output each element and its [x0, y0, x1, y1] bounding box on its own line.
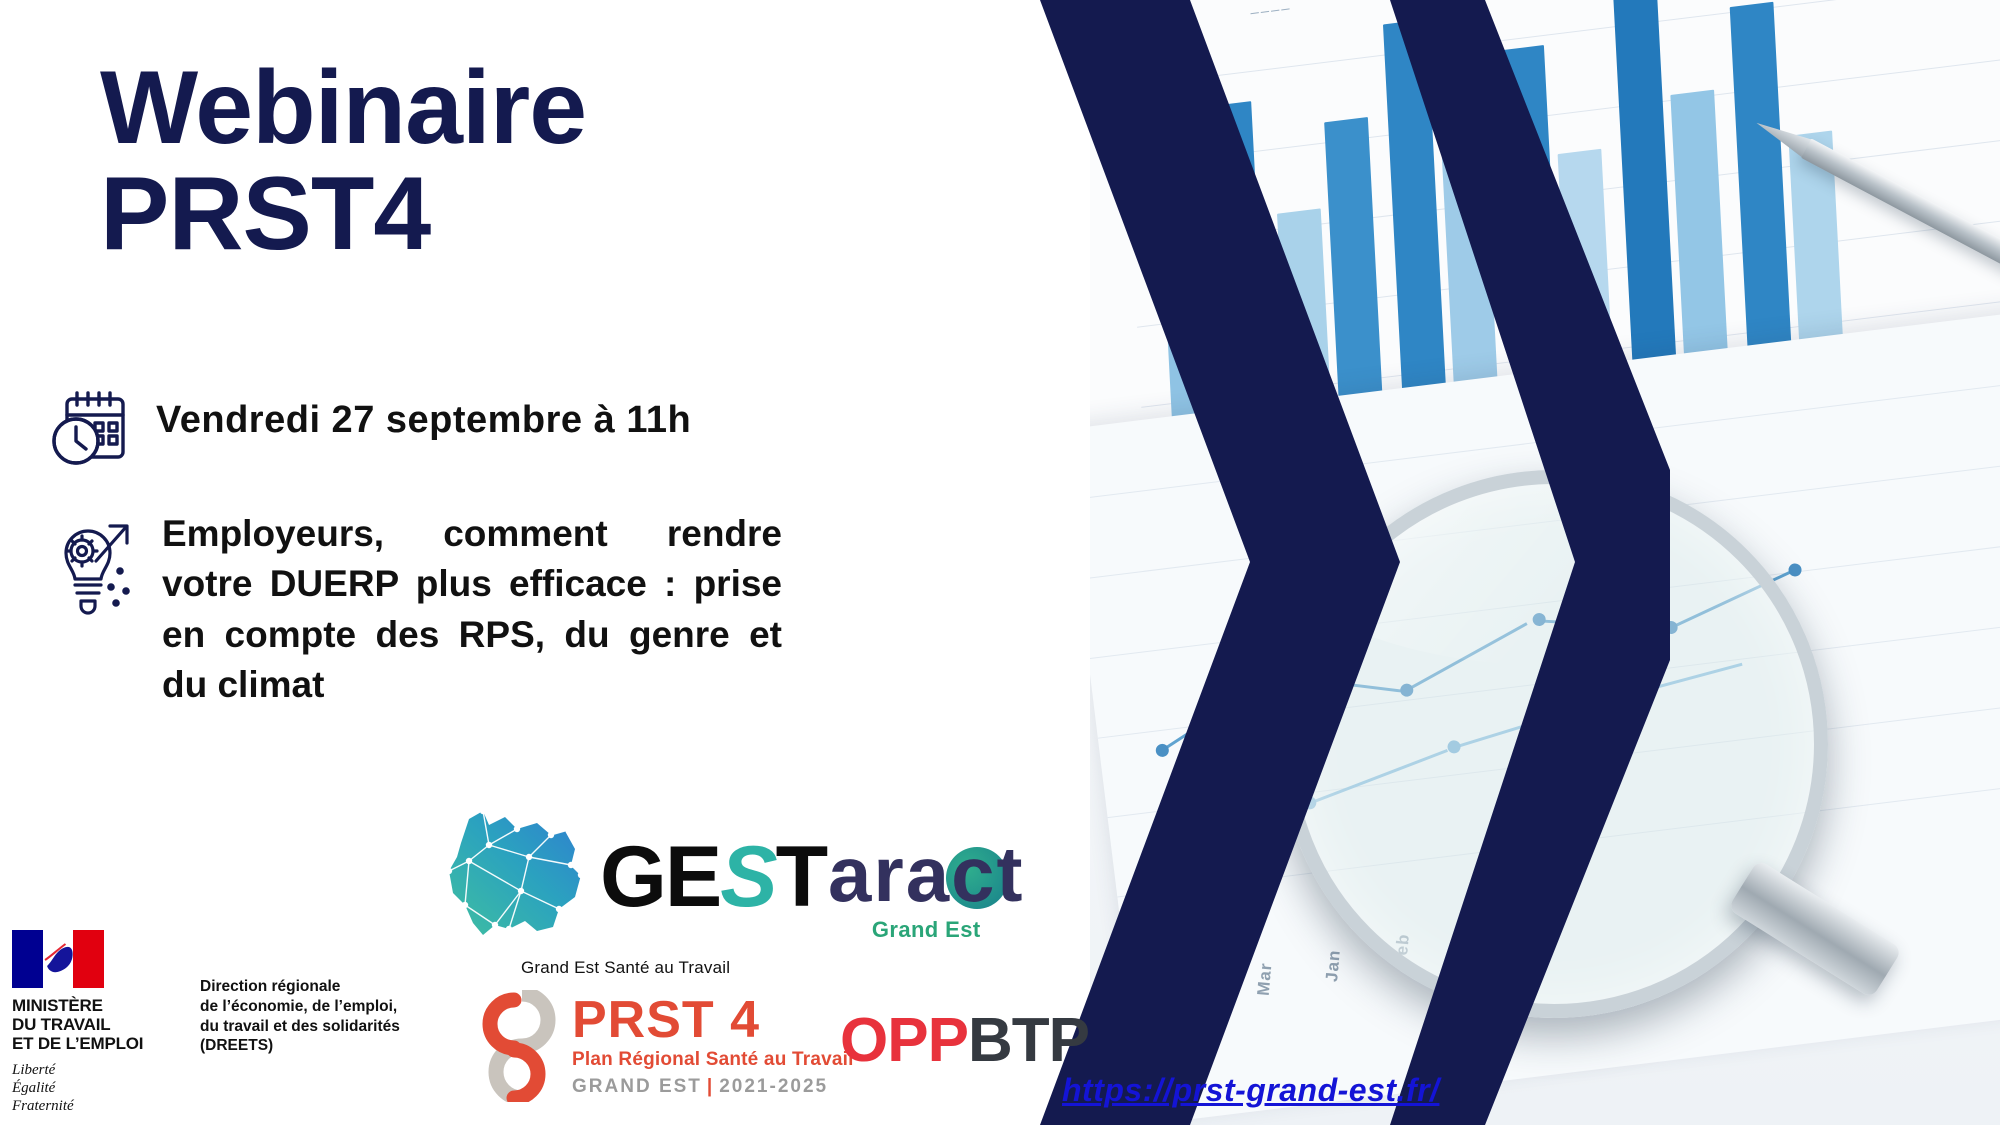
calendar-clock-icon [48, 385, 134, 476]
logo-ministere-travail: MINISTÈRE DU TRAVAIL ET DE L’EMPLOI Libe… [12, 930, 172, 1115]
prst-region: GRAND EST [572, 1076, 702, 1097]
lightbulb-gear-arrow-icon [48, 505, 140, 622]
website-link[interactable]: https://prst-grand-est.fr/ [1062, 1072, 1439, 1109]
event-date-text: Vendredi 27 septembre à 11h [156, 385, 691, 442]
logo-dreets: Direction régionale de l’économie, de l’… [200, 977, 470, 1056]
devise-fraternite: Fraternité [12, 1097, 172, 1115]
logo-prst4: PRST 4 Plan Régional Santé au Travail GR… [470, 990, 854, 1102]
prst-wordmark: PRST 4 Plan Régional Santé au Travail GR… [572, 994, 854, 1098]
title-line-2: PRST4 [100, 161, 586, 267]
page-title: Webinaire PRST4 [100, 55, 586, 267]
prst-separator: | [707, 1076, 714, 1097]
ministere-line-1: MINISTÈRE [12, 996, 172, 1015]
title-line-1: Webinaire [100, 50, 586, 166]
topic-row: Employeurs, comment rendre votre DUERP p… [48, 505, 782, 710]
gest-tagline: Grand Est Santé au Travail [521, 958, 730, 978]
devise-egalite: Égalité [12, 1079, 172, 1097]
date-row: Vendredi 27 septembre à 11h [48, 385, 691, 476]
gest-word-s: S [720, 839, 775, 916]
gest-word-part1: GE [600, 839, 720, 916]
chevron-decoration-inner [1390, 0, 1670, 1125]
dreets-line-3: du travail et des solidarités (DREETS) [200, 1017, 470, 1057]
logo-aract: aract Grand Est [828, 835, 1024, 943]
prst-years: 2021-2025 [719, 1076, 828, 1097]
ministere-line-3: ET DE L’EMPLOI [12, 1034, 172, 1053]
oppbtp-part-opp: OPP [840, 1006, 968, 1075]
devise-liberte: Liberté [12, 1061, 172, 1079]
prst-region-years: GRAND EST|2021-2025 [572, 1076, 854, 1098]
marianne-logo-icon [12, 930, 104, 988]
prst-ribbon-icon [470, 990, 556, 1102]
republique-devise: Liberté Égalité Fraternité [12, 1061, 172, 1115]
logo-oppbtp: OPPBTP [840, 1005, 1089, 1076]
aract-wordmark: aract [828, 835, 1024, 913]
poster-canvas: ‒‒‒‒ Ma [0, 0, 2000, 1125]
prst-title: PRST 4 [572, 994, 854, 1046]
gest-wordmark: GEST [600, 839, 826, 916]
event-topic-text: Employeurs, comment rendre votre DUERP p… [162, 505, 782, 710]
prst-subtitle: Plan Régional Santé au Travail [572, 1049, 854, 1071]
ministere-name: MINISTÈRE DU TRAVAIL ET DE L’EMPLOI [12, 996, 172, 1053]
ministere-line-2: DU TRAVAIL [12, 1015, 172, 1034]
aract-word-text: aract [828, 830, 1024, 918]
aract-region-label: Grand Est [872, 917, 981, 943]
oppbtp-part-btp: BTP [968, 1006, 1089, 1075]
logo-gest: GEST Grand Est Santé au Travail [425, 805, 826, 978]
chevron-decoration-outer [1040, 0, 1400, 1125]
dreets-line-2: de l’économie, de l’emploi, [200, 997, 470, 1017]
dreets-line-1: Direction régionale [200, 977, 470, 997]
gest-word-part2: T [776, 839, 827, 916]
grand-est-map-icon [425, 805, 600, 950]
